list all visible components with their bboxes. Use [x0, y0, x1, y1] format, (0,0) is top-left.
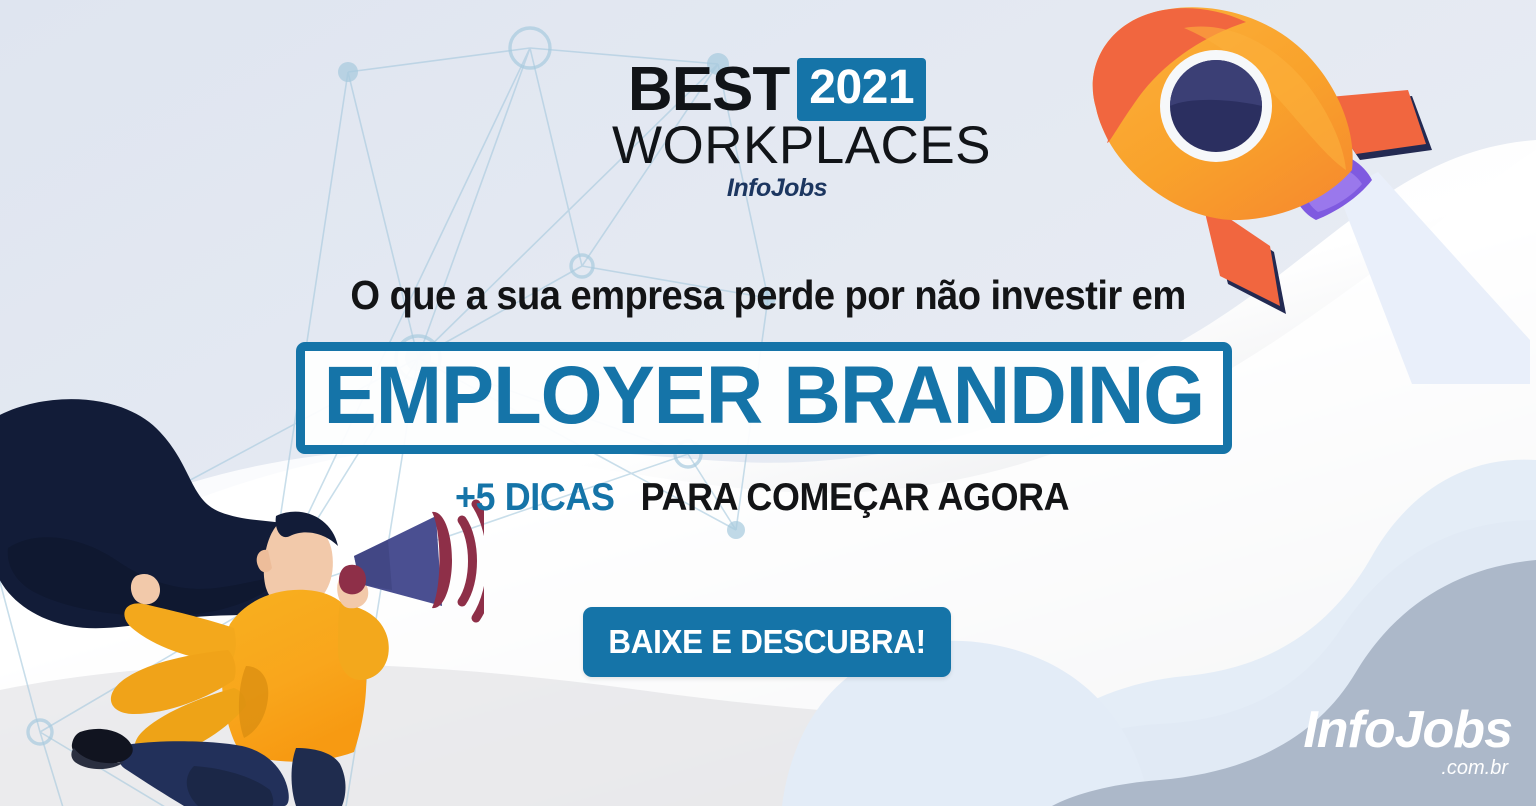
logo-workplaces-text: WORKPLACES	[612, 119, 942, 173]
best-workplaces-logo: BEST 2021 WORKPLACES InfoJobs	[612, 58, 942, 203]
download-cta-button[interactable]: BAIXE E DESCUBRA!	[583, 607, 951, 677]
subheadline: +5 DICAS PARA COMEÇAR AGORA	[0, 478, 1536, 517]
subheadline-rest: PARA COMEÇAR AGORA	[640, 478, 1069, 517]
sweater-sleeve-right	[338, 604, 389, 680]
infojobs-corner-logo: InfoJobs .com.br	[1303, 704, 1512, 778]
megaphone-sound-waves	[462, 504, 484, 618]
infojobs-corner-tld: .com.br	[1303, 758, 1508, 778]
headline-top-line: O que a sua empresa perde por não invest…	[350, 275, 1185, 316]
employer-branding-text: EMPLOYER BRANDING	[324, 355, 1205, 437]
logo-top-row: BEST 2021	[612, 58, 942, 121]
subheadline-highlight: +5 DICAS	[455, 478, 615, 517]
headline-top-line-wrap: O que a sua empresa perde por não invest…	[0, 275, 1536, 316]
cta-button-label: BAIXE E DESCUBRA!	[608, 623, 925, 661]
megaphone-handle	[339, 565, 366, 595]
infojobs-corner-name: InfoJobs	[1303, 704, 1512, 756]
logo-year-badge: 2021	[797, 58, 926, 121]
rocket-illustration	[1060, 0, 1530, 384]
promotional-banner: BEST 2021 WORKPLACES InfoJobs O que a su…	[0, 0, 1536, 806]
logo-best-text: BEST	[628, 60, 789, 120]
logo-infojobs-text: InfoJobs	[612, 174, 942, 203]
employer-branding-box: EMPLOYER BRANDING	[296, 342, 1232, 454]
